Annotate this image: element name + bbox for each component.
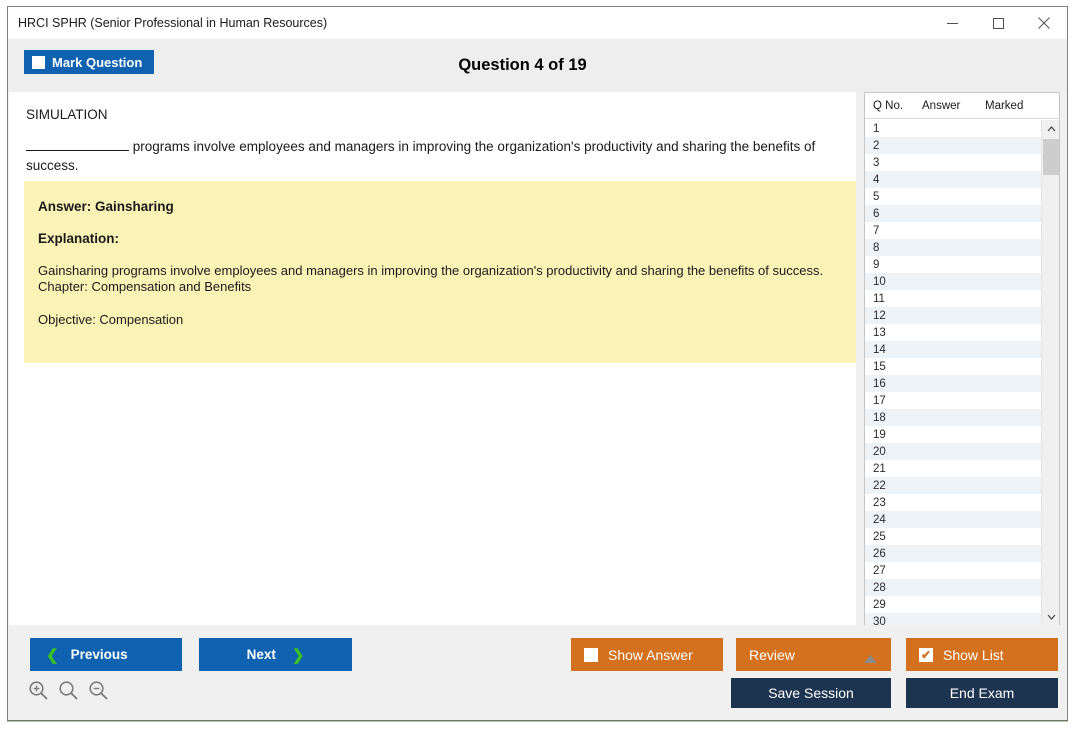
save-session-button[interactable]: Save Session <box>731 678 891 708</box>
question-list-row[interactable]: 14 <box>865 341 1042 358</box>
show-list-button[interactable]: ✔ Show List <box>906 638 1058 671</box>
mark-question-label: Mark Question <box>52 55 142 70</box>
window-controls <box>929 7 1067 39</box>
question-list-body[interactable]: 1234567891011121314151617181920212223242… <box>865 120 1042 626</box>
question-row-number: 7 <box>865 225 922 237</box>
question-type-label: SIMULATION <box>26 107 108 122</box>
question-list-row[interactable]: 4 <box>865 171 1042 188</box>
show-list-label: Show List <box>943 647 1004 663</box>
question-list-row[interactable]: 2 <box>865 137 1042 154</box>
answer-blank <box>26 137 129 151</box>
question-list-row[interactable]: 8 <box>865 239 1042 256</box>
review-label: Review <box>749 647 795 663</box>
question-row-number: 25 <box>865 531 922 543</box>
mark-question-checkbox[interactable] <box>32 56 45 69</box>
column-header-answer: Answer <box>922 100 985 112</box>
column-header-qno: Q No. <box>865 100 922 112</box>
question-row-number: 3 <box>865 157 922 169</box>
question-list-row[interactable]: 7 <box>865 222 1042 239</box>
question-row-number: 10 <box>865 276 922 288</box>
question-list-header: Q No. Answer Marked <box>865 93 1059 119</box>
question-list-row[interactable]: 18 <box>865 409 1042 426</box>
close-button[interactable] <box>1021 7 1067 39</box>
show-answer-button[interactable]: Show Answer <box>571 638 723 671</box>
question-row-number: 22 <box>865 480 922 492</box>
chevron-up-icon <box>1047 126 1056 132</box>
chevron-down-icon <box>1047 614 1056 620</box>
question-list-row[interactable]: 15 <box>865 358 1042 375</box>
question-list-row[interactable]: 16 <box>865 375 1042 392</box>
column-header-marked: Marked <box>985 100 1045 112</box>
question-row-number: 17 <box>865 395 922 407</box>
objective-text: Objective: Compensation <box>38 312 840 327</box>
question-row-number: 18 <box>865 412 922 424</box>
question-row-number: 1 <box>865 123 922 135</box>
question-row-number: 12 <box>865 310 922 322</box>
question-header-bar: Mark Question Question 4 of 19 <box>8 39 1067 92</box>
question-row-number: 24 <box>865 514 922 526</box>
caret-up-icon <box>864 650 877 666</box>
explanation-label: Explanation: <box>38 231 840 246</box>
question-row-number: 21 <box>865 463 922 475</box>
chevron-left-icon: ❮ <box>46 646 59 664</box>
review-dropdown[interactable]: Review <box>736 638 891 671</box>
next-label: Next <box>247 647 276 662</box>
question-row-number: 26 <box>865 548 922 560</box>
question-row-number: 8 <box>865 242 922 254</box>
question-list-row[interactable]: 29 <box>865 596 1042 613</box>
minimize-icon <box>947 18 958 29</box>
answer-explanation-panel: Answer: Gainsharing Explanation: Gainsha… <box>24 181 856 363</box>
question-list-row[interactable]: 11 <box>865 290 1042 307</box>
end-exam-label: End Exam <box>950 685 1015 701</box>
question-list-row[interactable]: 1 <box>865 120 1042 137</box>
zoom-in-icon[interactable] <box>28 680 49 701</box>
question-list-row[interactable]: 25 <box>865 528 1042 545</box>
question-list-row[interactable]: 13 <box>865 324 1042 341</box>
question-list-scrollbar[interactable] <box>1041 120 1059 626</box>
question-list-row[interactable]: 6 <box>865 205 1042 222</box>
maximize-button[interactable] <box>975 7 1021 39</box>
explanation-text: Gainsharing programs involve employees a… <box>38 263 840 295</box>
question-list-row[interactable]: 27 <box>865 562 1042 579</box>
question-row-number: 11 <box>865 293 922 305</box>
scroll-up-button[interactable] <box>1042 120 1060 138</box>
question-row-number: 23 <box>865 497 922 509</box>
question-list-row[interactable]: 20 <box>865 443 1042 460</box>
question-row-number: 6 <box>865 208 922 220</box>
question-list-row[interactable]: 26 <box>865 545 1042 562</box>
question-list-row[interactable]: 28 <box>865 579 1042 596</box>
scroll-down-button[interactable] <box>1042 608 1060 626</box>
question-row-number: 27 <box>865 565 922 577</box>
window-title: HRCI SPHR (Senior Professional in Human … <box>18 16 327 30</box>
mark-question-button[interactable]: Mark Question <box>24 50 154 74</box>
question-list-row[interactable]: 10 <box>865 273 1042 290</box>
question-list-row[interactable]: 23 <box>865 494 1042 511</box>
question-list-row[interactable]: 3 <box>865 154 1042 171</box>
question-row-number: 29 <box>865 599 922 611</box>
chevron-right-icon: ❯ <box>292 646 305 664</box>
bottom-toolbar: ❮ Previous Next ❯ Show Answer Review ✔ S… <box>8 625 1067 720</box>
previous-label: Previous <box>71 647 128 662</box>
question-row-number: 19 <box>865 429 922 441</box>
question-list-row[interactable]: 17 <box>865 392 1042 409</box>
close-icon <box>1038 17 1050 29</box>
question-row-number: 16 <box>865 378 922 390</box>
minimize-button[interactable] <box>929 7 975 39</box>
zoom-out-icon[interactable] <box>88 680 109 701</box>
question-row-number: 2 <box>865 140 922 152</box>
question-list-row[interactable]: 12 <box>865 307 1042 324</box>
question-text: programs involve employees and managers … <box>26 137 841 175</box>
answer-line: Answer: Gainsharing <box>38 199 840 214</box>
scrollbar-thumb[interactable] <box>1043 139 1059 175</box>
question-row-number: 28 <box>865 582 922 594</box>
question-row-number: 14 <box>865 344 922 356</box>
next-button[interactable]: Next ❯ <box>199 638 352 671</box>
zoom-reset-icon[interactable] <box>58 680 79 701</box>
show-list-checkbox[interactable]: ✔ <box>919 648 933 662</box>
previous-button[interactable]: ❮ Previous <box>30 638 182 671</box>
question-list-row[interactable]: 9 <box>865 256 1042 273</box>
question-row-number: 5 <box>865 191 922 203</box>
question-row-number: 20 <box>865 446 922 458</box>
zoom-controls <box>28 680 109 701</box>
question-text-body: programs involve employees and managers … <box>26 139 815 173</box>
show-answer-label: Show Answer <box>608 647 693 663</box>
question-list-row[interactable]: 22 <box>865 477 1042 494</box>
question-row-number: 9 <box>865 259 922 271</box>
title-bar: HRCI SPHR (Senior Professional in Human … <box>8 7 1067 39</box>
question-list-row[interactable]: 19 <box>865 426 1042 443</box>
question-row-number: 15 <box>865 361 922 373</box>
end-exam-button[interactable]: End Exam <box>906 678 1058 708</box>
question-list-row[interactable]: 24 <box>865 511 1042 528</box>
maximize-icon <box>993 18 1004 29</box>
question-row-number: 13 <box>865 327 922 339</box>
question-counter: Question 4 of 19 <box>8 39 1067 92</box>
question-list-panel: Q No. Answer Marked 12345678910111213141… <box>864 92 1060 627</box>
question-content-area: SIMULATION programs involve employees an… <box>9 92 856 627</box>
question-row-number: 4 <box>865 174 922 186</box>
question-list-row[interactable]: 21 <box>865 460 1042 477</box>
application-window: HRCI SPHR (Senior Professional in Human … <box>7 6 1068 721</box>
save-session-label: Save Session <box>768 685 854 701</box>
show-answer-checkbox[interactable] <box>584 648 598 662</box>
question-list-row[interactable]: 5 <box>865 188 1042 205</box>
